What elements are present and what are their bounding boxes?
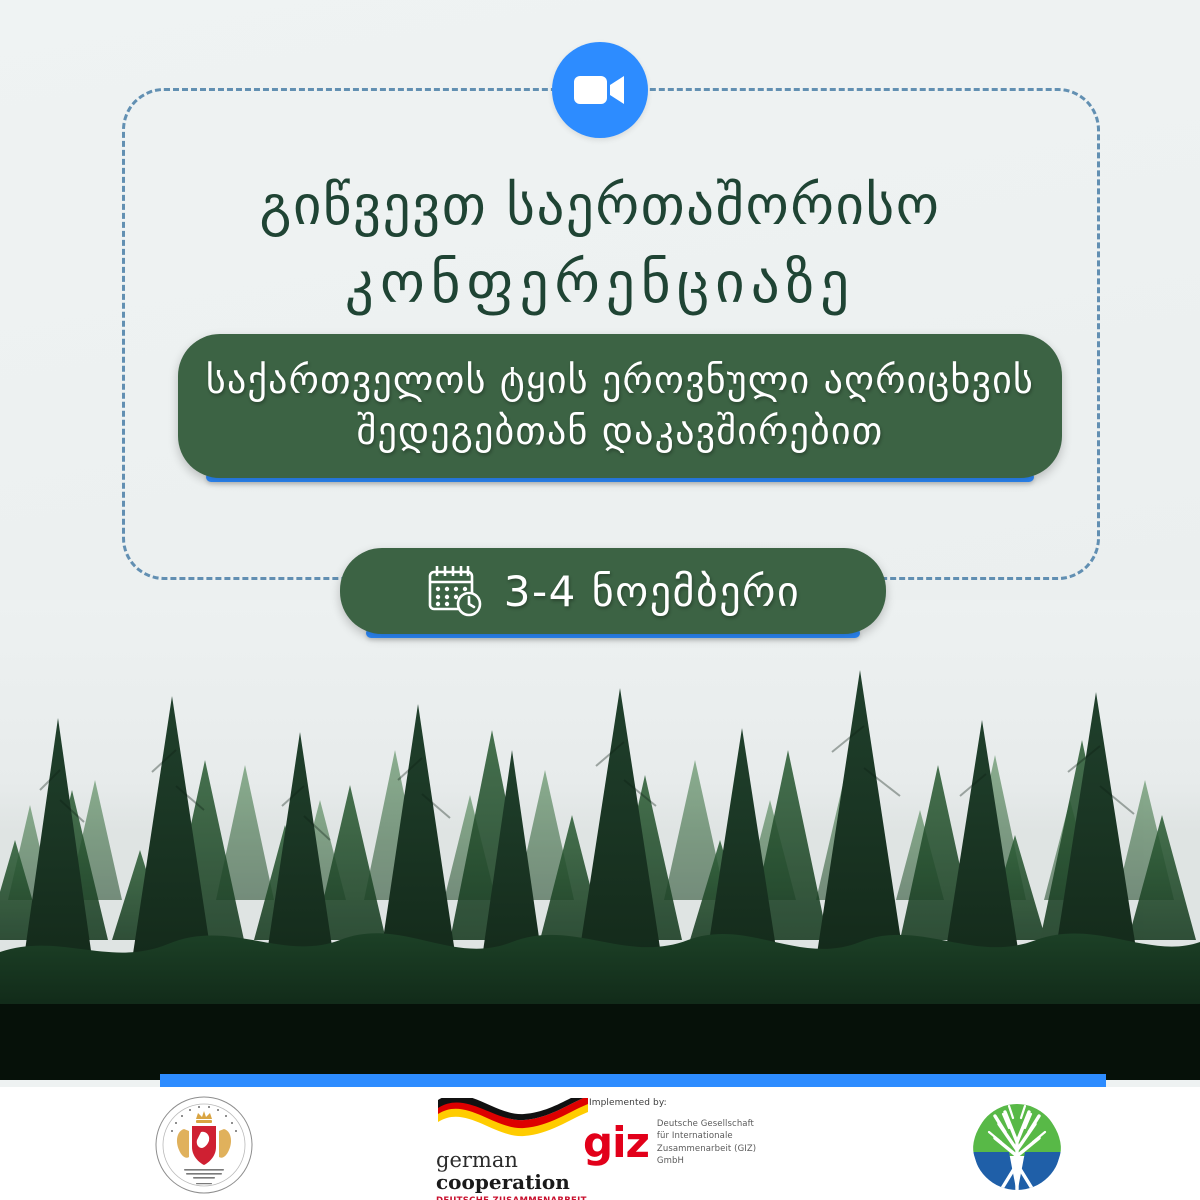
german-cooperation-line-2: cooperation bbox=[436, 1171, 587, 1194]
date-badge: 3-4 ნოემბერი bbox=[340, 548, 886, 634]
ministry-seal-icon bbox=[152, 1095, 256, 1195]
ministry-seal-logo bbox=[152, 1095, 256, 1195]
date-text: 3-4 ნოემბერი bbox=[504, 567, 800, 616]
giz-logo: Implemented by: giz Deutsche Gesellschaf… bbox=[583, 1098, 783, 1190]
video-camera-icon bbox=[572, 72, 628, 108]
headline-line-2: კონფერენციაზე bbox=[0, 244, 1200, 323]
tree-circle-icon bbox=[965, 1094, 1069, 1198]
giz-desc-line-1: Deutsche Gesellschaft bbox=[657, 1118, 783, 1130]
calendar-clock-icon bbox=[426, 563, 486, 619]
giz-desc-line-2: für Internationale bbox=[657, 1130, 783, 1142]
subtitle-line-2: შედეგებთან დაკავშირებით bbox=[206, 406, 1034, 457]
german-flag-ribbon-icon bbox=[432, 1098, 594, 1148]
giz-description: Deutsche Gesellschaft für Internationale… bbox=[657, 1118, 783, 1167]
headline-line-1: გიწვევთ საერთაშორისო bbox=[259, 173, 940, 237]
german-cooperation-logo: german cooperation DEUTSCHE ZUSAMMENARBE… bbox=[432, 1098, 594, 1194]
giz-wordmark: giz bbox=[583, 1124, 649, 1162]
german-cooperation-text: german cooperation DEUTSCHE ZUSAMMENARBE… bbox=[436, 1150, 587, 1200]
page-title: გიწვევთ საერთაშორისო კონფერენციაზე bbox=[0, 168, 1200, 323]
forestry-agency-logo bbox=[965, 1094, 1069, 1198]
conifer-forest-illustration bbox=[0, 600, 1200, 1080]
zoom-video-icon bbox=[552, 42, 648, 138]
german-cooperation-line-3: DEUTSCHE ZUSAMMENARBEIT bbox=[436, 1196, 587, 1200]
giz-desc-line-3: Zusammenarbeit (GIZ) GmbH bbox=[657, 1143, 783, 1168]
forest-photo bbox=[0, 600, 1200, 1080]
subtitle-text: საქართველოს ტყის ეროვნული აღრიცხვის შედე… bbox=[206, 355, 1034, 457]
subtitle-banner: საქართველოს ტყის ეროვნული აღრიცხვის შედე… bbox=[178, 334, 1062, 478]
conference-invitation-poster: გიწვევთ საერთაშორისო კონფერენციაზე საქარ… bbox=[0, 0, 1200, 1200]
subtitle-line-1: საქართველოს ტყის ეროვნული აღრიცხვის bbox=[206, 355, 1034, 406]
footer-accent-rule bbox=[160, 1074, 1106, 1087]
giz-wordmark-row: giz Deutsche Gesellschaft für Internatio… bbox=[583, 1118, 783, 1167]
german-cooperation-line-1: german bbox=[436, 1150, 587, 1171]
giz-implemented-by-label: Implemented by: bbox=[589, 1098, 667, 1108]
footer-logo-bar: german cooperation DEUTSCHE ZUSAMMENARBE… bbox=[0, 1087, 1200, 1200]
